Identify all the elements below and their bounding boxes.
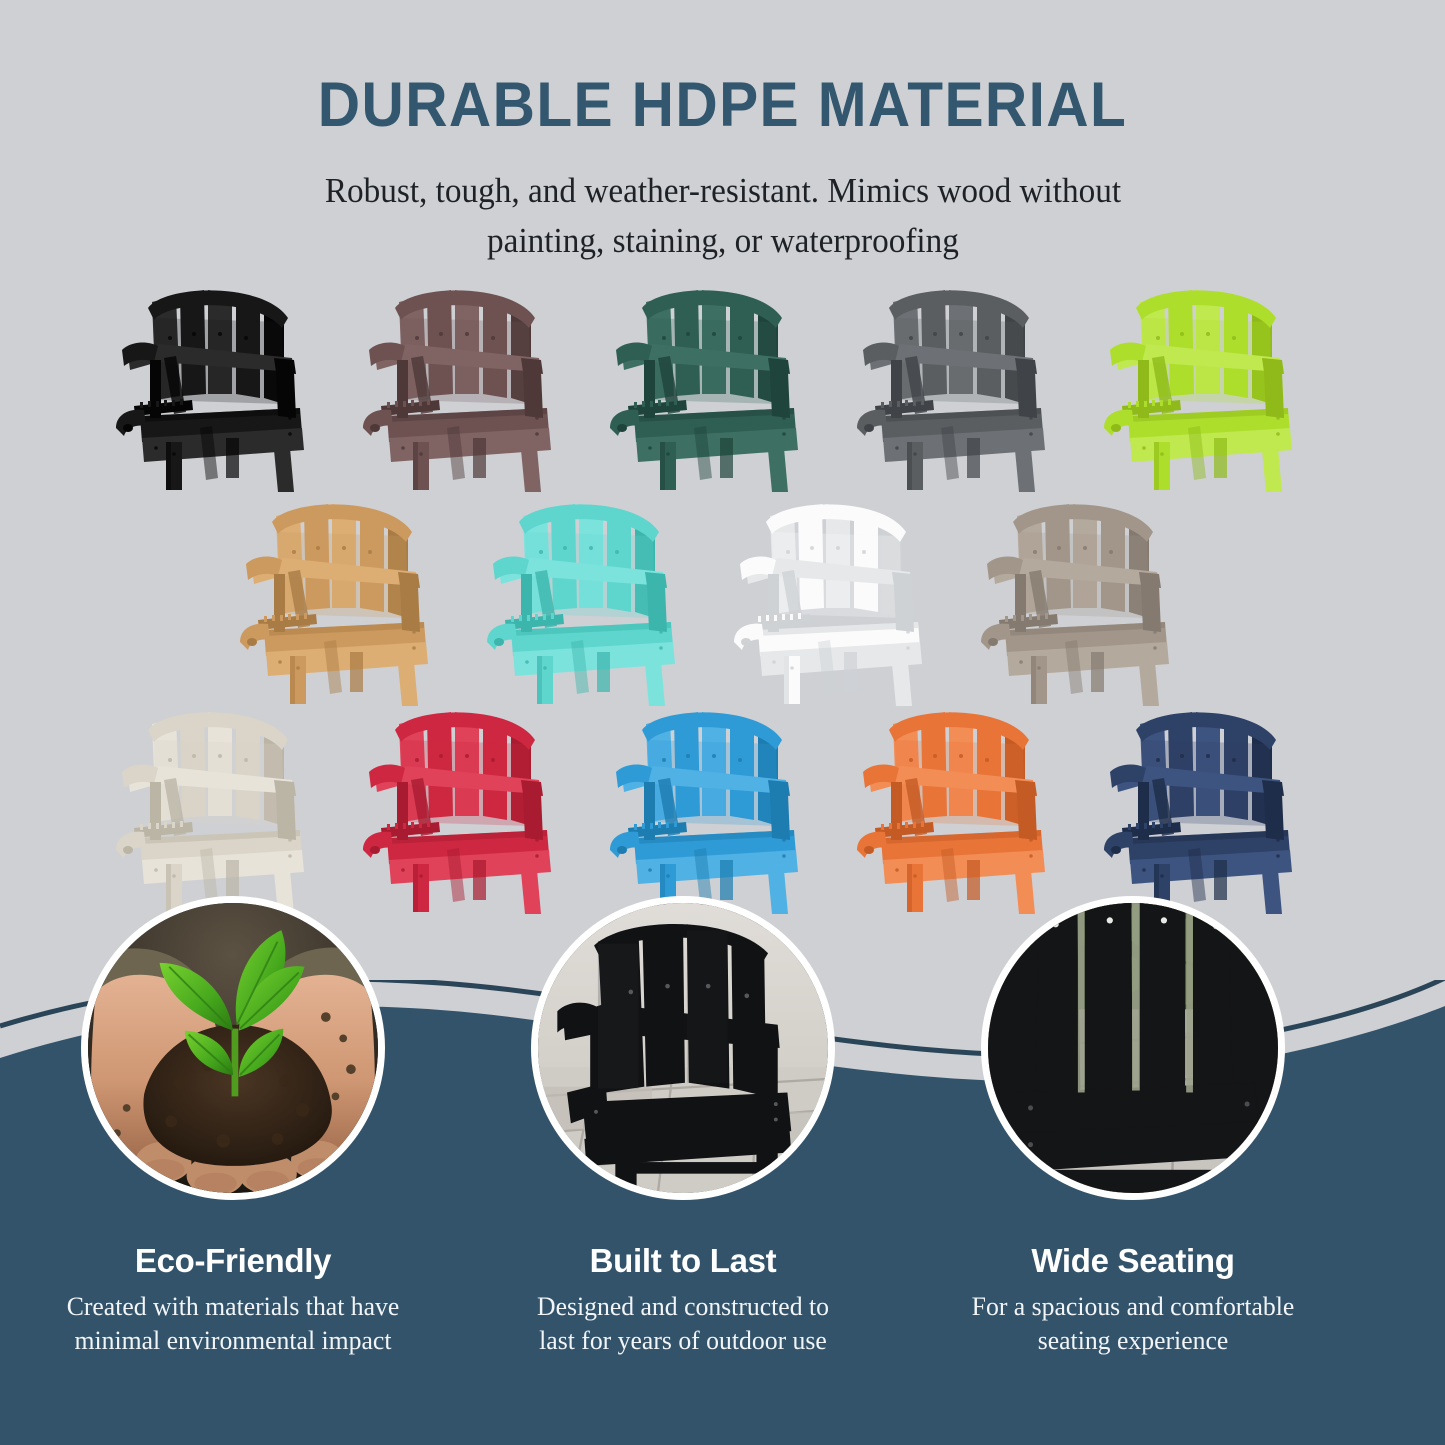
feature-desc-line-2: minimal environmental impact: [24, 1324, 441, 1358]
chair-cell: [485, 492, 714, 707]
feature-description: Designed and constructed to last for yea…: [474, 1290, 891, 1358]
taupe-chair: [979, 492, 1208, 707]
green-chair: [608, 278, 837, 493]
page-title: DURABLE HDPE MATERIAL: [51, 72, 1395, 138]
feature-desc-line-1: For a spacious and comfortable: [939, 1290, 1327, 1324]
navy-chair: [1102, 700, 1331, 915]
chair-cell: [361, 700, 590, 915]
chair-cell: [1102, 700, 1331, 915]
chair-row-1: [0, 278, 1445, 493]
brown-chair: [361, 278, 590, 493]
light-blue-chair: [608, 700, 837, 915]
chair-cell: [114, 278, 343, 493]
chair-seat-closeup-photo: [981, 896, 1285, 1200]
subtitle-line-1: Robust, tough, and weather-resistant. Mi…: [248, 166, 1198, 216]
chair-cell: [608, 700, 837, 915]
beige-chair: [114, 700, 343, 915]
subtitle-line-2: painting, staining, or waterproofing: [248, 216, 1198, 266]
orange-chair: [855, 700, 1084, 915]
feature-desc-line-1: Designed and constructed to: [474, 1290, 891, 1324]
lime-chair: [1102, 278, 1331, 493]
feature-title: Built to Last: [518, 1242, 848, 1280]
aqua-chair: [485, 492, 714, 707]
hands-holding-seedling-photo: [81, 896, 385, 1200]
infographic-page: DURABLE HDPE MATERIAL Robust, tough, and…: [0, 0, 1445, 1445]
chair-cell: [855, 700, 1084, 915]
feature-wide-seating: Wide Seating For a spacious and comforta…: [968, 896, 1298, 1358]
chair-cell: [855, 278, 1084, 493]
chair-cell: [608, 278, 837, 493]
black-chair: [114, 278, 343, 493]
red-chair: [361, 700, 590, 915]
header: DURABLE HDPE MATERIAL Robust, tough, and…: [0, 0, 1445, 266]
black-chair-on-patio-photo: [531, 896, 835, 1200]
teak-chair: [238, 492, 467, 707]
feature-title: Eco-Friendly: [68, 1242, 398, 1280]
chair-cell: [238, 492, 467, 707]
feature-description: For a spacious and comfortable seating e…: [939, 1290, 1327, 1358]
chair-row-3: [0, 700, 1445, 915]
gray-chair: [855, 278, 1084, 493]
chair-row-2: [0, 492, 1445, 707]
feature-desc-line-2: seating experience: [939, 1324, 1327, 1358]
feature-desc-line-2: last for years of outdoor use: [474, 1324, 891, 1358]
feature-title: Wide Seating: [968, 1242, 1298, 1280]
feature-eco-friendly: Eco-Friendly Created with materials that…: [68, 896, 398, 1358]
feature-desc-line-1: Created with materials that have: [24, 1290, 441, 1324]
chair-cell: [1102, 278, 1331, 493]
feature-description: Created with materials that have minimal…: [24, 1290, 441, 1358]
chair-cell: [979, 492, 1208, 707]
feature-built-to-last: Built to Last Designed and constructed t…: [518, 896, 848, 1358]
chair-cell: [114, 700, 343, 915]
chair-cell: [732, 492, 961, 707]
white-chair: [732, 492, 961, 707]
chair-cell: [361, 278, 590, 493]
page-subtitle: Robust, tough, and weather-resistant. Mi…: [248, 166, 1198, 265]
